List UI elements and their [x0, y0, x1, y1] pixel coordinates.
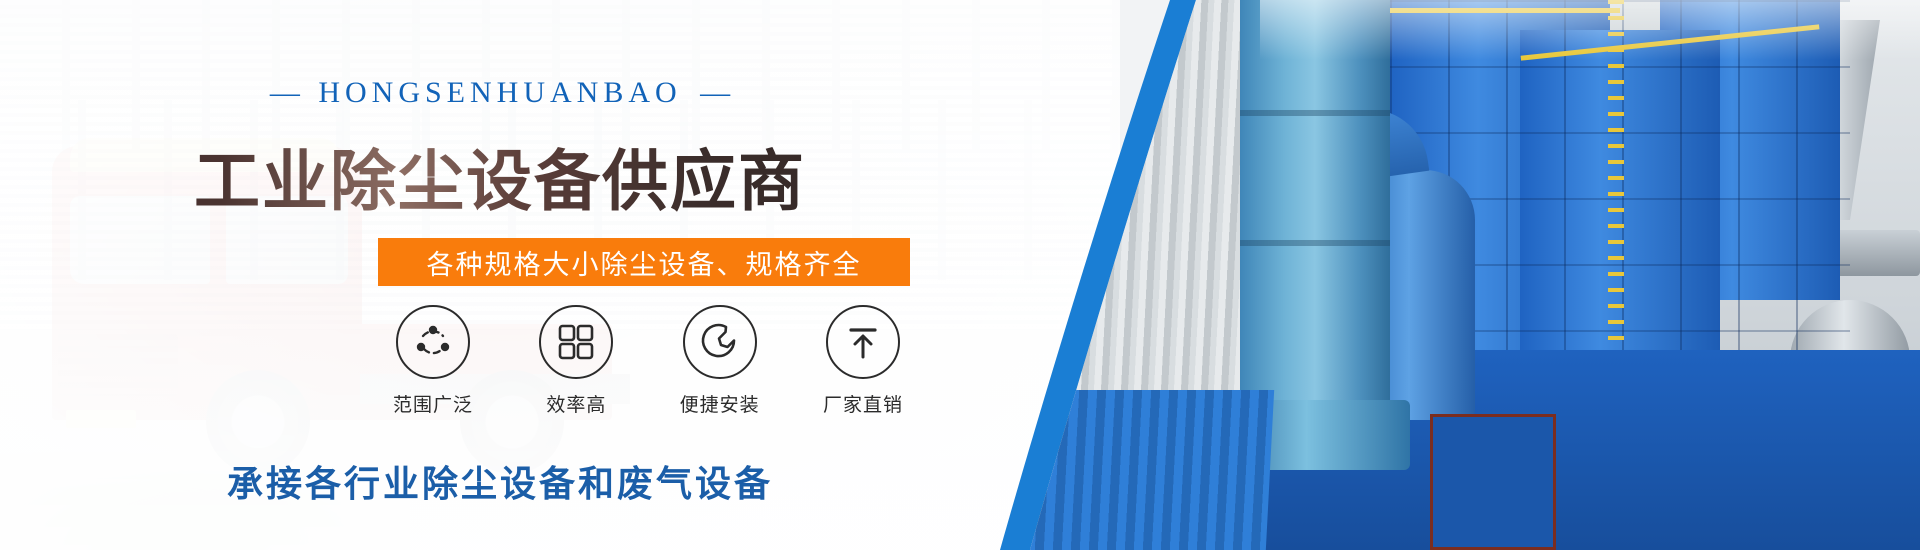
arrow-up-to-bar-icon [826, 305, 900, 379]
feature-label: 效率高 [546, 390, 606, 417]
feature-item-efficiency[interactable]: 效率高 [521, 305, 631, 417]
hero-title: 工业除尘设备供应商 [0, 128, 1000, 224]
brand-eyebrow: — HONGSENHUANBAO — [0, 76, 1000, 110]
feature-label: 范围广泛 [393, 390, 473, 417]
feature-item-direct-sales[interactable]: 厂家直销 [808, 305, 918, 417]
feature-list: 范围广泛 效率高 [378, 305, 918, 417]
eyebrow-right-dash: — [694, 76, 736, 110]
grid-squares-icon [539, 305, 613, 379]
highlight-bar: 各种规格大小除尘设备、规格齐全 [378, 238, 910, 286]
highlight-bar-text: 各种规格大小除尘设备、规格齐全 [427, 243, 862, 282]
blue-stack [1240, 0, 1390, 410]
hero-banner: — HONGSENHUANBAO — 工业除尘设备供应商 各种规格大小除尘设备、… [0, 0, 1920, 550]
feature-item-range[interactable]: 范围广泛 [378, 305, 488, 417]
eyebrow-left-dash: — [264, 76, 306, 110]
eyebrow-text: HONGSENHUANBAO [318, 76, 681, 109]
hero-content: — HONGSENHUANBAO — 工业除尘设备供应商 各种规格大小除尘设备、… [0, 0, 1120, 550]
feature-label: 便捷安装 [680, 390, 760, 417]
feature-item-install[interactable]: 便捷安装 [665, 305, 775, 417]
wrench-icon [683, 305, 757, 379]
network-nodes-icon [396, 305, 470, 379]
hero-tagline: 承接各行业除尘设备和废气设备 [0, 455, 1000, 507]
feature-label: 厂家直销 [823, 390, 903, 417]
